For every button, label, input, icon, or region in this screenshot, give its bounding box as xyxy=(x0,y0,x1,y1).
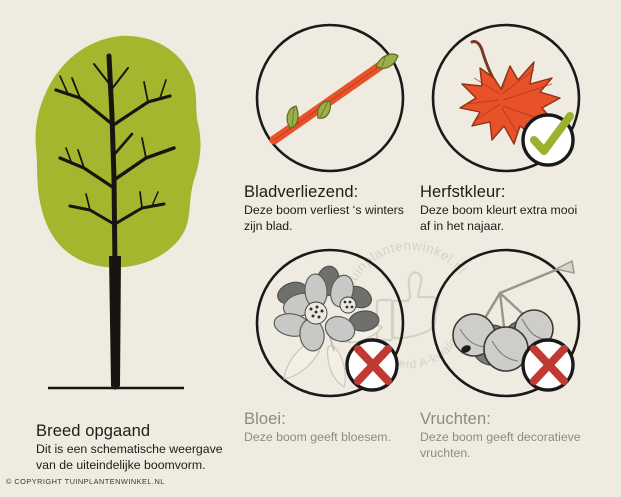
features-grid: Bladverliezend: Deze boom verliest ‘s wi… xyxy=(238,0,621,497)
feature-description-line1: Deze boom geeft decoratieve xyxy=(420,430,604,446)
feature-title: Bloei: xyxy=(244,409,428,429)
feature-bladverliezend: Bladverliezend: Deze boom verliest ‘s wi… xyxy=(242,22,428,265)
feature-title: Herfstkleur: xyxy=(420,182,604,202)
blossom-flower-icon xyxy=(254,247,406,399)
broad-upright-tree-icon xyxy=(36,36,201,390)
feature-title: Vruchten: xyxy=(420,409,604,429)
feature-description-line2: af in het najaar. xyxy=(420,219,604,235)
feature-text-bladverliezend: Bladverliezend: Deze boom verliest ‘s wi… xyxy=(244,182,428,234)
tree-description-line2: van de uiteindelijke boomvorm. xyxy=(36,458,241,474)
feature-text-herfstkleur: Herfstkleur: Deze boom kleurt extra mooi… xyxy=(420,182,604,234)
tree-illustration xyxy=(8,28,236,420)
tree-description-line1: Dit is een schematische weergave xyxy=(36,442,241,458)
copyright-notice: © Copyright Tuinplantenwinkel.nl xyxy=(6,477,165,486)
cross-badge-icon xyxy=(523,340,573,390)
feature-bloei: Bloei: Deze boom geeft bloesem. xyxy=(242,243,428,486)
tree-caption: Breed opgaand Dit is een schematische we… xyxy=(36,421,241,473)
feature-vruchten: Vruchten: Deze boom geeft decoratieve vr… xyxy=(418,243,604,486)
berries-fruit-icon xyxy=(430,247,582,399)
autumn-maple-leaf-icon xyxy=(430,22,582,174)
feature-description-line2: zijn blad. xyxy=(244,219,428,235)
infographic-root: tuinplantenwinkel.nl gegarandeerd A-kwal… xyxy=(0,0,621,497)
feature-description-line1: Deze boom geeft bloesem. xyxy=(244,430,428,446)
feature-description-line2: vruchten. xyxy=(420,446,604,462)
feature-title: Bladverliezend: xyxy=(244,182,428,202)
branch-with-leaves-icon xyxy=(254,22,406,174)
feature-description-line1: Deze boom verliest ‘s winters xyxy=(244,203,428,219)
tree-panel: Breed opgaand Dit is een schematische we… xyxy=(0,0,238,497)
feature-text-bloei: Bloei: Deze boom geeft bloesem. xyxy=(244,409,428,446)
cross-badge-icon xyxy=(347,340,397,390)
feature-text-vruchten: Vruchten: Deze boom geeft decoratieve vr… xyxy=(420,409,604,461)
tree-title: Breed opgaand xyxy=(36,421,241,441)
feature-description-line1: Deze boom kleurt extra mooi xyxy=(420,203,604,219)
feature-herfstkleur: Herfstkleur: Deze boom kleurt extra mooi… xyxy=(418,22,604,265)
check-badge-icon xyxy=(523,115,573,165)
